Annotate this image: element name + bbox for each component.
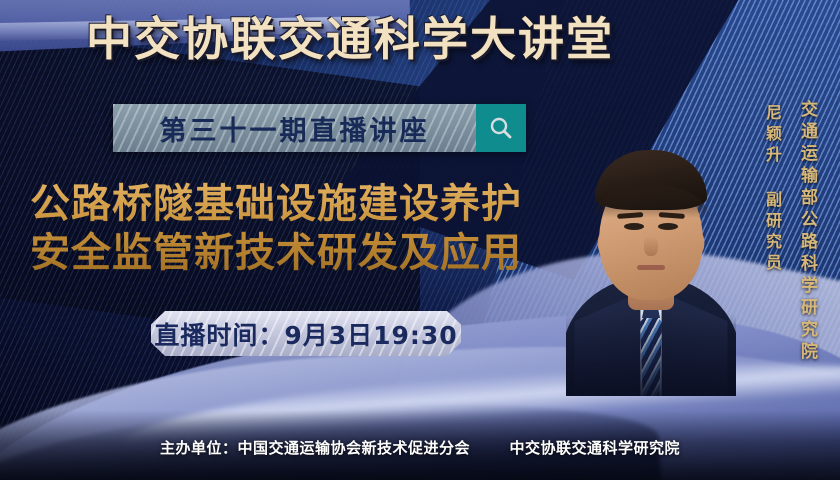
speaker-organization: 交通运输部公路科学研究院 bbox=[795, 100, 820, 364]
episode-banner: 第三十一期直播讲座 bbox=[113, 104, 526, 152]
broadcast-time-text: 直播时间：9月3日19:30 bbox=[154, 316, 457, 352]
search-icon-box[interactable] bbox=[476, 104, 526, 152]
page-title: 中交协联交通科学大讲堂 bbox=[0, 14, 700, 65]
footer-co-organizer: 中交协联交通科学研究院 bbox=[509, 439, 680, 457]
footer: 主办单位：中国交通运输协会新技术促进分会 中交协联交通科学研究院 bbox=[0, 437, 840, 458]
footer-organizer: 主办单位：中国交通运输协会新技术促进分会 bbox=[160, 439, 470, 457]
speaker-name: 尼颖升 副研究员 bbox=[760, 104, 784, 275]
speaker-portrait bbox=[566, 101, 736, 396]
speaker-bottom-fade bbox=[566, 101, 736, 396]
broadcast-time-badge: 直播时间：9月3日19:30 bbox=[151, 311, 461, 356]
lecture-title-line1: 公路桥隧基础设施建设养护 bbox=[30, 180, 590, 229]
lecture-title-line2: 安全监管新技术研发及应用 bbox=[30, 229, 590, 278]
live-lecture-poster: 中交协联交通科学大讲堂 第三十一期直播讲座 公路桥隧基础设施建设养护 安全监管新… bbox=[0, 0, 840, 480]
episode-label: 第三十一期直播讲座 bbox=[160, 109, 430, 148]
search-icon bbox=[488, 115, 514, 141]
episode-banner-panel: 第三十一期直播讲座 bbox=[113, 104, 476, 152]
lecture-title: 公路桥隧基础设施建设养护 安全监管新技术研发及应用 bbox=[30, 180, 590, 278]
